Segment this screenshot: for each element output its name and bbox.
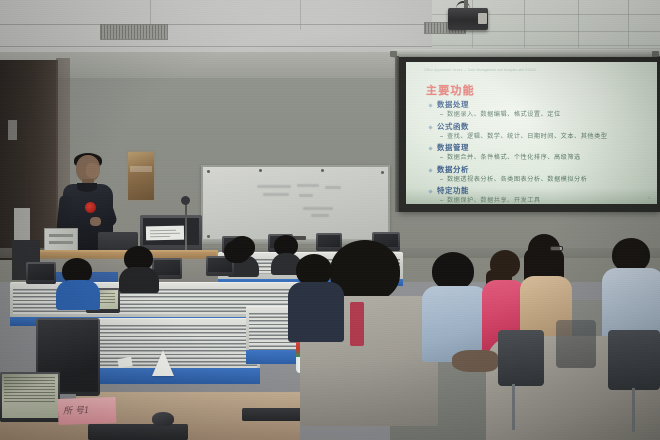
keyboard xyxy=(88,424,188,440)
slide-header-text: Office Application Series — Data Managem… xyxy=(424,67,649,72)
presenter-hand xyxy=(90,217,101,226)
monitor xyxy=(316,233,342,251)
microphone-head xyxy=(181,196,190,205)
lanyard xyxy=(350,302,364,346)
hand xyxy=(452,350,498,372)
slide-section-heading: 数据分析 xyxy=(428,165,649,175)
slide-section-heading: 公式函数 xyxy=(428,122,649,132)
slide-section: 数据处理 数据录入、数据编辑、格式设置、定位 xyxy=(428,100,649,119)
projection-screen: Office Application Series — Data Managem… xyxy=(399,57,660,212)
slide-section: 公式函数 查找、逻辑、数学、统计、日期时间、文本、其他类型 xyxy=(428,122,649,141)
desk-pink-label-text: 所 号1 xyxy=(63,403,90,417)
chair-leg xyxy=(632,388,635,432)
wall-notice-paper-small xyxy=(8,120,17,140)
ceiling-vent-left xyxy=(100,24,168,40)
chair xyxy=(556,320,596,368)
glasses-icon xyxy=(550,246,563,251)
mouse xyxy=(152,412,174,426)
chair xyxy=(498,330,544,386)
slide-section-detail: 查找、逻辑、数学、统计、日期时间、文本、其他类型 xyxy=(428,132,649,141)
paper-name-tent xyxy=(152,350,174,376)
presenter-collar xyxy=(77,183,97,192)
wall-notice-paper xyxy=(14,208,30,242)
slide-section-detail: 数据合并、条件格式、个性化排序、高级筛选 xyxy=(428,153,649,162)
chair-leg xyxy=(512,384,515,430)
ceiling-projector xyxy=(448,8,488,30)
wall-picture-frame xyxy=(126,150,156,202)
podium-paper xyxy=(146,226,184,241)
slide-section-heading: 数据处理 xyxy=(428,100,649,110)
slide-title: 主要功能 xyxy=(426,82,475,98)
projected-slide: Office Application Series — Data Managem… xyxy=(406,62,657,204)
classroom-scene: Office Application Series — Data Managem… xyxy=(0,0,660,440)
monitor xyxy=(0,372,60,422)
chair xyxy=(608,330,660,390)
monitor xyxy=(26,262,56,284)
screen-shadow xyxy=(406,188,657,204)
presenter-face xyxy=(86,163,100,178)
slide-section: 数据分析 数据透视表分析、各类图表分析、数据模拟分析 xyxy=(428,165,649,184)
slide-section: 数据管理 数据合并、条件格式、个性化排序、高级筛选 xyxy=(428,143,649,162)
whiteboard xyxy=(201,165,390,241)
slide-section-detail: 数据录入、数据编辑、格式设置、定位 xyxy=(428,110,649,119)
slide-section-detail: 数据透视表分析、各类图表分析、数据模拟分析 xyxy=(428,175,649,184)
slide-section-heading: 数据管理 xyxy=(428,143,649,153)
microphone-stand xyxy=(185,200,187,256)
desk-pink-label: 所 号1 xyxy=(58,397,117,425)
